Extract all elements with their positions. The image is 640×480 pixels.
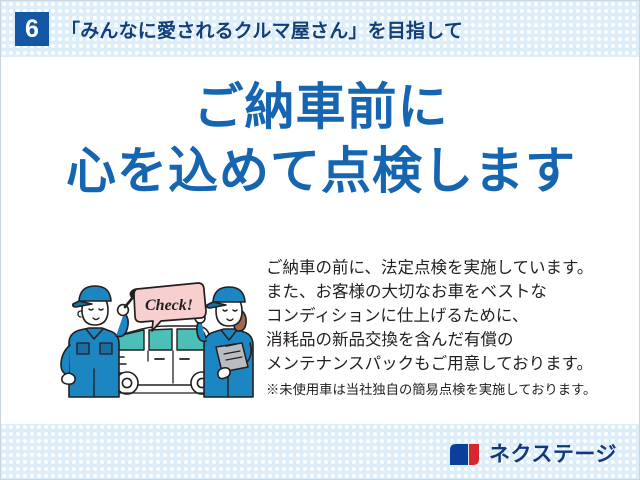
mechanics-illustration: Check! — [56, 273, 261, 401]
body-line: コンディションに仕上げるために、 — [266, 304, 626, 328]
body-line: メンテナンスパックもご用意しております。 — [266, 352, 626, 376]
check-bubble-label: Check! — [145, 297, 193, 314]
body-line: 消耗品の新品交換を含んだ有償の — [266, 328, 626, 352]
header-title: 「みんなに愛されるクルマ屋さん」を目指して — [61, 16, 463, 43]
brand-logo: ネクステージ — [448, 442, 617, 467]
body-line: また、お客様の大切なお車をベストな — [266, 280, 626, 304]
header: 6 「みんなに愛されるクルマ屋さん」を目指して — [1, 1, 640, 57]
main-heading: ご納車前に 心を込めて点検します — [1, 79, 640, 199]
heading-line-2: 心を込めて点検します — [1, 143, 640, 199]
body-line: ご納車の前に、法定点検を実施しています。 — [266, 256, 626, 280]
brand-name: ネクステージ — [489, 444, 617, 465]
body-copy: ご納車の前に、法定点検を実施しています。 また、お客様の大切なお車をベストな コ… — [266, 256, 626, 400]
n-logo-icon — [448, 442, 482, 467]
heading-line-1: ご納車前に — [1, 79, 640, 135]
advertisement-page: 6 「みんなに愛されるクルマ屋さん」を目指して ご納車前に 心を込めて点検します… — [0, 0, 640, 480]
section-number-badge: 6 — [15, 12, 49, 46]
body-footnote: ※未使用車は当社独自の簡易点検を実施しております。 — [266, 380, 626, 399]
